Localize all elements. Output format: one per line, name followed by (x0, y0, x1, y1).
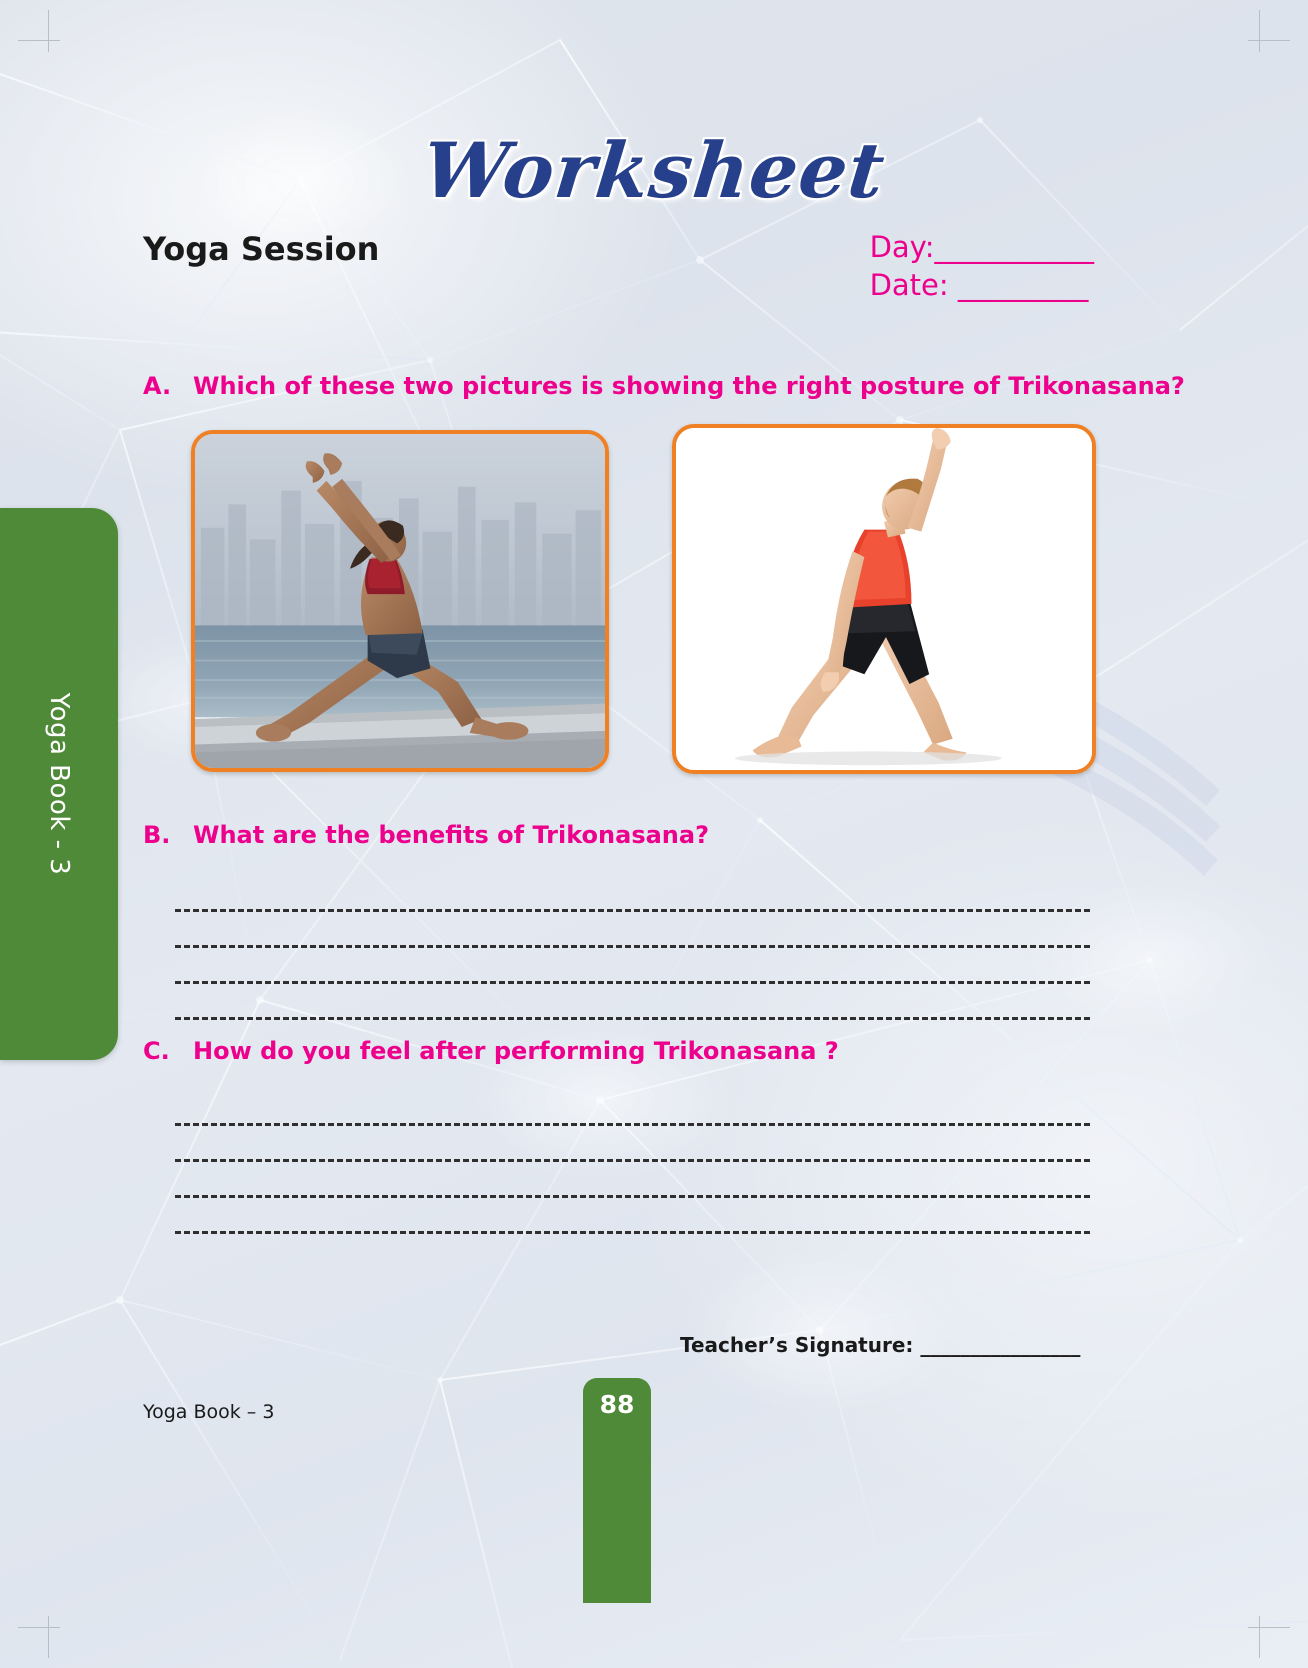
answer-line[interactable] (175, 1090, 1090, 1126)
yoga-photo-lunge[interactable] (191, 430, 609, 772)
question-a-text: Which of these two pictures is showing t… (193, 372, 1185, 400)
day-date-block: Day:___________ Date: _________ (870, 228, 1094, 304)
side-tab-label: Yoga Book - 3 (44, 693, 74, 876)
answer-lines-c[interactable] (175, 1090, 1090, 1234)
subject-heading: Yoga Session (143, 230, 379, 268)
question-b-text: What are the benefits of Trikonasana? (193, 821, 709, 849)
yoga-photo-trikonasana[interactable] (672, 424, 1096, 774)
question-a-label: A. (143, 372, 193, 400)
answer-lines-b[interactable] (175, 876, 1090, 1020)
question-a: A.Which of these two pictures is showing… (143, 372, 1185, 400)
page-number-tab: 88 (583, 1378, 651, 1603)
question-b: B.What are the benefits of Trikonasana? (143, 821, 709, 849)
answer-line[interactable] (175, 984, 1090, 1020)
question-c-label: C. (143, 1037, 193, 1065)
question-c-text: How do you feel after performing Trikona… (193, 1037, 839, 1065)
answer-line[interactable] (175, 1126, 1090, 1162)
answer-line[interactable] (175, 948, 1090, 984)
footer-book-label: Yoga Book – 3 (143, 1401, 274, 1423)
page-title: Worksheet (0, 126, 1308, 215)
day-field[interactable]: Day:___________ (870, 228, 1094, 266)
page-number: 88 (583, 1390, 651, 1419)
answer-line[interactable] (175, 1162, 1090, 1198)
date-field[interactable]: Date: _________ (870, 266, 1094, 304)
question-c: C.How do you feel after performing Triko… (143, 1037, 839, 1065)
answer-line[interactable] (175, 912, 1090, 948)
side-tab-yoga-book: Yoga Book - 3 (0, 508, 118, 1060)
teacher-signature-field[interactable]: Teacher’s Signature: ________________ (680, 1333, 1080, 1357)
question-b-label: B. (143, 821, 193, 849)
worksheet-page: Yoga Book - 3 Worksheet Yoga Session Day… (0, 0, 1308, 1668)
answer-line[interactable] (175, 876, 1090, 912)
answer-line[interactable] (175, 1198, 1090, 1234)
